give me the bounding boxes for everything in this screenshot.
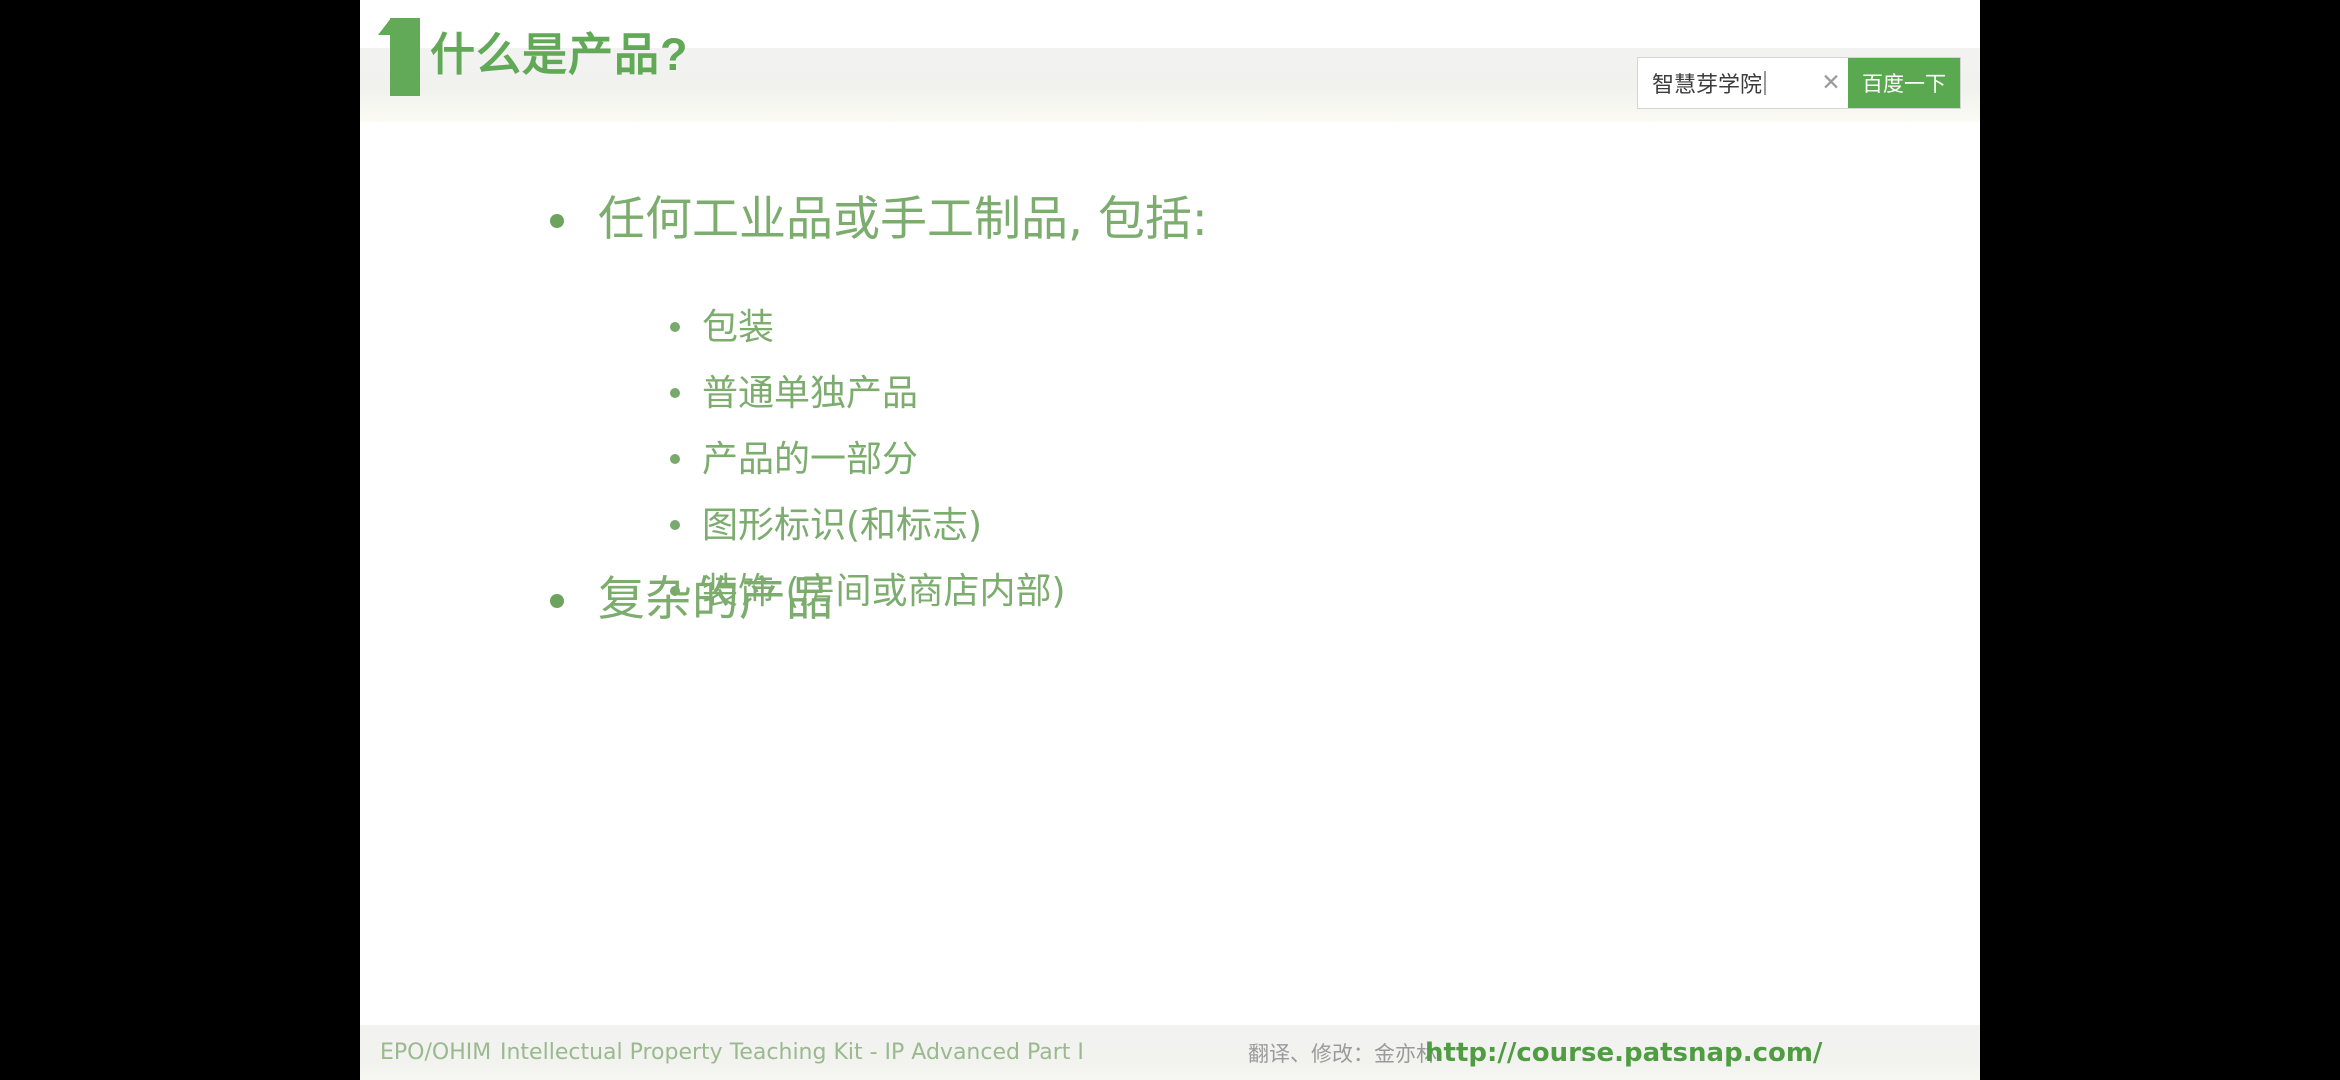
page-title: 什么是产品? — [430, 22, 689, 88]
bullet-text: 复杂的产品 — [598, 565, 833, 635]
slide-footer: EPO/OHIM Intellectual Property Teaching … — [360, 1025, 1980, 1080]
list-item: 包装 — [670, 295, 1850, 361]
list-item: 产品的一部分 — [670, 427, 1850, 493]
search-input-value: 智慧芽学院 — [1652, 67, 1762, 99]
baidu-search-widget[interactable]: 智慧芽学院 ✕ 百度一下 — [1638, 58, 1960, 108]
footer-organization: EPO/OHIM — [380, 1040, 491, 1065]
text-caret — [1764, 71, 1766, 95]
number-badge-stem — [390, 18, 420, 96]
bullet-dot-icon — [550, 214, 564, 228]
slide-body: 任何工业品或手工制品, 包括: 包装 普通单独产品 产品的一部分 — [360, 150, 1980, 1010]
letterbox-left — [0, 0, 360, 1080]
bullet-list-level1: 任何工业品或手工制品, 包括: 包装 普通单独产品 产品的一部分 — [550, 185, 1850, 625]
list-item: 装饰 (房间或商店内部) — [670, 559, 1850, 625]
bullet-text: 产品的一部分 — [702, 427, 918, 493]
bullet-text: 任何工业品或手工制品, 包括: — [598, 185, 1208, 255]
slide-header: 什么是产品? — [378, 18, 689, 96]
list-item: 任何工业品或手工制品, 包括: — [550, 185, 1850, 255]
bullet-dot-icon — [670, 520, 680, 530]
presentation-slide: 什么是产品? 智慧芽学院 ✕ 百度一下 任何工业品或手工制品, 包括: — [360, 0, 1980, 1080]
baidu-search-button[interactable]: 百度一下 — [1848, 58, 1960, 108]
bullet-text: 普通单独产品 — [702, 361, 918, 427]
list-item: 复杂的产品 — [550, 565, 833, 635]
bullet-dot-icon — [670, 388, 680, 398]
section-number-badge — [378, 18, 420, 96]
bullet-dot-icon — [550, 594, 564, 608]
letterbox-right — [1980, 0, 2340, 1080]
footer-course-url[interactable]: http://course.patsnap.com/ — [1425, 1038, 1822, 1068]
search-input[interactable]: 智慧芽学院 — [1638, 58, 1814, 108]
slide-viewer: 什么是产品? 智慧芽学院 ✕ 百度一下 任何工业品或手工制品, 包括: — [0, 0, 2340, 1080]
footer-translator: 翻译、修改：金亦林 — [1248, 1038, 1437, 1068]
list-item: 普通单独产品 — [670, 361, 1850, 427]
bullet-dot-icon — [670, 454, 680, 464]
list-item: 图形标识(和标志) — [670, 493, 1850, 559]
bullet-text: 图形标识(和标志) — [702, 493, 982, 559]
close-icon[interactable]: ✕ — [1814, 58, 1848, 108]
bullet-dot-icon — [670, 322, 680, 332]
footer-kit-title: Intellectual Property Teaching Kit - IP … — [500, 1040, 1084, 1065]
bullet-text: 包装 — [702, 295, 774, 361]
